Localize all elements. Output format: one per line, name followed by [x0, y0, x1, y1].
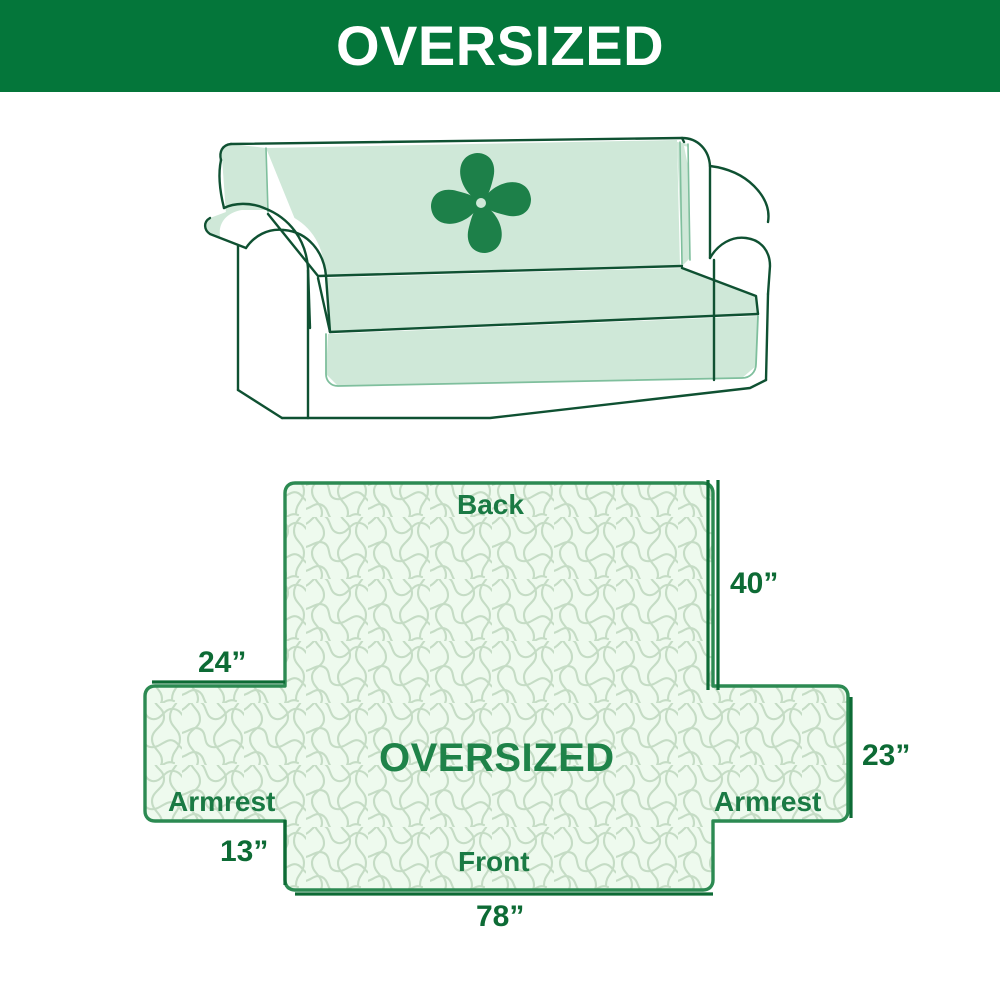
region-label-armrest-right: Armrest [714, 788, 821, 816]
page-title: OVERSIZED [336, 18, 664, 74]
sofa-drawing [190, 118, 810, 448]
slipcover-shape [145, 483, 848, 890]
sofa-right-arm-white [684, 146, 768, 288]
region-label-armrest-left: Armrest [168, 788, 275, 816]
region-label-front: Front [458, 848, 530, 876]
dim-label-23: 23” [862, 741, 910, 771]
layout-diagram: Back Front Armrest Armrest OVERSIZED 24”… [120, 455, 940, 935]
region-label-back: Back [457, 491, 524, 519]
sofa-illustration [190, 118, 810, 448]
dim-label-78: 78” [476, 902, 524, 932]
dim-label-13: 13” [220, 837, 268, 867]
dim-label-40: 40” [730, 569, 778, 599]
header-banner: OVERSIZED [0, 0, 1000, 92]
dim-label-24: 24” [198, 648, 246, 678]
center-label: OVERSIZED [379, 738, 615, 778]
